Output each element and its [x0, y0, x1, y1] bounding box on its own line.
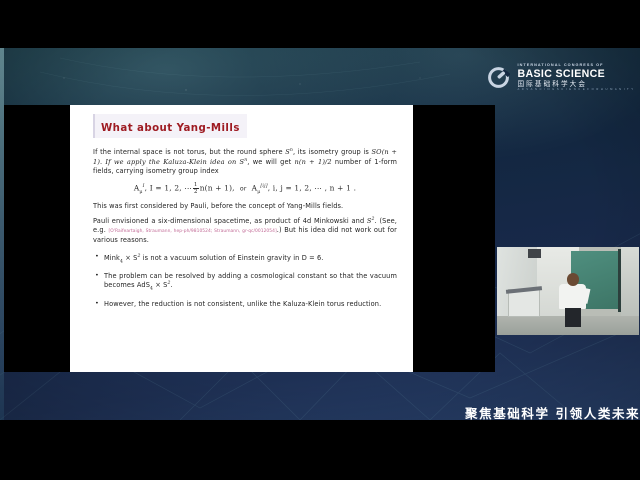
bullet1-seg-a: Mink [104, 254, 120, 262]
letterbox-bar-bottom [0, 420, 640, 480]
para1-seg-a: If the internal space is not torus, but … [93, 148, 285, 156]
left-edge-accent-strip [0, 48, 4, 420]
bullet1-seg-c: is not a vacuum solution of Einstein gra… [140, 254, 301, 262]
logo-line-international: INTERNATIONAL CONGRESS OF [517, 64, 634, 68]
video-frame: What about Yang-Mills If the internal sp… [0, 48, 640, 420]
speaker-legs [565, 308, 581, 327]
formula-half-fraction: 12 [193, 182, 199, 195]
para3-seg-a: Pauli envisioned a six-dimensional space… [93, 217, 367, 225]
fraction-numerator: 1 [193, 182, 199, 189]
formula-A1-sub: μ [139, 190, 142, 195]
event-info-block: 聚焦基础科学 引领人类未来 ADVANCING SCIENCE FOR HUMA… [465, 403, 635, 420]
para1-seg-b: , its isometry group is [293, 148, 372, 156]
formula-A2-rest: , i, j = 1, 2, ⋯ , n + 1 . [268, 184, 356, 193]
formula-A2-sub: μ [257, 190, 260, 195]
letterbox-bar-top [0, 0, 640, 48]
bullet1-tail: . [321, 254, 323, 262]
slide-paragraph-3: Pauli envisioned a six-dimensional space… [93, 216, 397, 245]
fraction-denominator: 2 [193, 189, 199, 195]
slide-title: What about Yang-Mills [101, 123, 240, 134]
slide-content: What about Yang-Mills If the internal sp… [93, 114, 397, 313]
speaker-head [567, 273, 579, 285]
para1-seg-d: , we will get [247, 158, 294, 166]
bullet3-seg-a: However, the reduction is not consistent… [104, 300, 381, 308]
logo-line-tagline: A D V A N C I N G S C I E N C E F O R H … [517, 89, 634, 92]
camera-ceiling-unit [528, 249, 541, 259]
bullet2-seg-c: . [170, 282, 172, 290]
slide-citation-link[interactable]: [O'Raifeartaigh, Straumann, hep-ph/98105… [108, 229, 276, 234]
formula-A1-rest: , I = 1, 2, ⋯ [145, 184, 192, 193]
basic-science-ring-icon [487, 66, 510, 89]
bullet2-times: × [153, 282, 163, 290]
logo-line-chinese: 国际基础科学大会 [517, 81, 634, 88]
para1-so-symbol: SO [372, 148, 382, 156]
slide-title-band: What about Yang-Mills [93, 114, 247, 138]
congress-logo: INTERNATIONAL CONGRESS OF BASIC SCIENCE … [487, 64, 634, 92]
bullet1-dimension: D = 6 [302, 254, 322, 262]
slide-bullet-item-3: However, the reduction is not consistent… [93, 300, 397, 309]
formula-A2-sup: [ij] [260, 184, 267, 189]
formula-A1-tail: n(n + 1), [200, 184, 235, 193]
para1-count-expr: n(n + 1)/2 [295, 158, 332, 166]
logo-line-basic-science: BASIC SCIENCE [517, 69, 634, 80]
formula-operator: or [240, 186, 247, 193]
event-slogan-chinese: 聚焦基础科学 引领人类未来 [465, 403, 635, 420]
presentation-slide[interactable]: What about Yang-Mills If the internal sp… [70, 105, 413, 372]
video-stage: What about Yang-Mills If the internal sp… [0, 0, 640, 480]
speaker-camera-feed[interactable] [497, 247, 639, 335]
bullet1-times: × [123, 254, 133, 262]
bullet2-seg-a: The problem can be resolved by adding a … [104, 272, 397, 290]
slide-paragraph-2: This was first considered by Pauli, befo… [93, 202, 397, 211]
slide-paragraph-1: If the internal space is not torus, but … [93, 147, 397, 175]
slide-bullet-item-1: Mink4 × S2 is not a vacuum solution of E… [93, 253, 397, 267]
congress-logo-text: INTERNATIONAL CONGRESS OF BASIC SCIENCE … [517, 64, 634, 92]
slide-bullet-list: Mink4 × S2 is not a vacuum solution of E… [93, 253, 397, 308]
slide-formula: AμI, I = 1, 2, ⋯12n(n + 1), or Aμ[ij], i… [93, 182, 397, 195]
slide-bullet-item-2: The problem can be resolved by adding a … [93, 272, 397, 295]
